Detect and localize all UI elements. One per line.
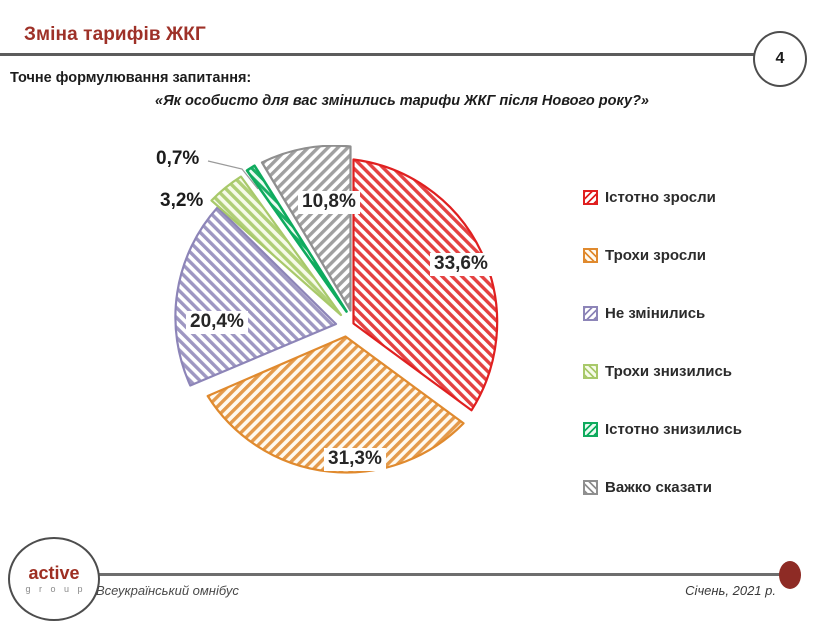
legend-item-istotno-zrosly[interactable]: Істотно зросли bbox=[583, 178, 823, 216]
pie-label-vazhko-skazaty: 10,8% bbox=[298, 191, 360, 214]
legend-swatch-icon bbox=[583, 306, 598, 321]
active-group-logo: active g r o u p bbox=[8, 537, 100, 621]
legend-label: Трохи зросли bbox=[605, 247, 706, 264]
legend-item-trokhy-znyzylys[interactable]: Трохи знизились bbox=[583, 352, 823, 390]
legend-label: Істотно знизились bbox=[605, 421, 742, 438]
legend-item-vazhko-skazaty[interactable]: Важко сказати bbox=[583, 468, 823, 506]
legend-item-istotno-znyzylys[interactable]: Істотно знизились bbox=[583, 410, 823, 448]
pie-chart: 0,7% 3,2% 10,8% 33,6% 20,4% 31,3% bbox=[150, 145, 550, 515]
footer-survey-name: Всеукраїнський омнібус bbox=[96, 583, 239, 598]
header-divider bbox=[0, 53, 775, 56]
legend-label: Істотно зросли bbox=[605, 189, 716, 206]
legend-swatch-icon bbox=[583, 248, 598, 263]
pie-label-trokhy-zrosly: 31,3% bbox=[324, 448, 386, 471]
logo-primary-text: active bbox=[28, 564, 79, 582]
legend-label: Не змінились bbox=[605, 305, 705, 322]
page-title: Зміна тарифів ЖКГ bbox=[24, 24, 206, 46]
legend-label: Важко сказати bbox=[605, 479, 712, 496]
question-label: Точне формулювання запитання: bbox=[10, 70, 251, 86]
legend-label: Трохи знизились bbox=[605, 363, 732, 380]
pie-label-ne-zminylys: 20,4% bbox=[186, 311, 248, 334]
page-number-text: 4 bbox=[776, 50, 785, 68]
legend-item-trokhy-zrosly[interactable]: Трохи зросли bbox=[583, 236, 823, 274]
legend-swatch-icon bbox=[583, 190, 598, 205]
footer-divider bbox=[75, 573, 789, 576]
footer-date: Січень, 2021 р. bbox=[685, 583, 776, 598]
pie-label-istotno-zrosly: 33,6% bbox=[430, 253, 492, 276]
legend-item-ne-zminylys[interactable]: Не змінились bbox=[583, 294, 823, 332]
pie-label-istotno-znyzylys: 0,7% bbox=[156, 148, 199, 170]
legend-swatch-icon bbox=[583, 364, 598, 379]
chart-legend: Істотно зросли Трохи зросли Не змінились… bbox=[583, 178, 823, 526]
page-number-badge: 4 bbox=[753, 31, 807, 87]
pie-label-trokhy-znyzylys: 3,2% bbox=[160, 190, 203, 212]
legend-swatch-icon bbox=[583, 480, 598, 495]
footer-dot-icon bbox=[779, 561, 801, 589]
logo-secondary-text: g r o u p bbox=[25, 585, 85, 594]
question-text: «Як особисто для вас змінились тарифи ЖК… bbox=[155, 93, 649, 109]
legend-swatch-icon bbox=[583, 422, 598, 437]
